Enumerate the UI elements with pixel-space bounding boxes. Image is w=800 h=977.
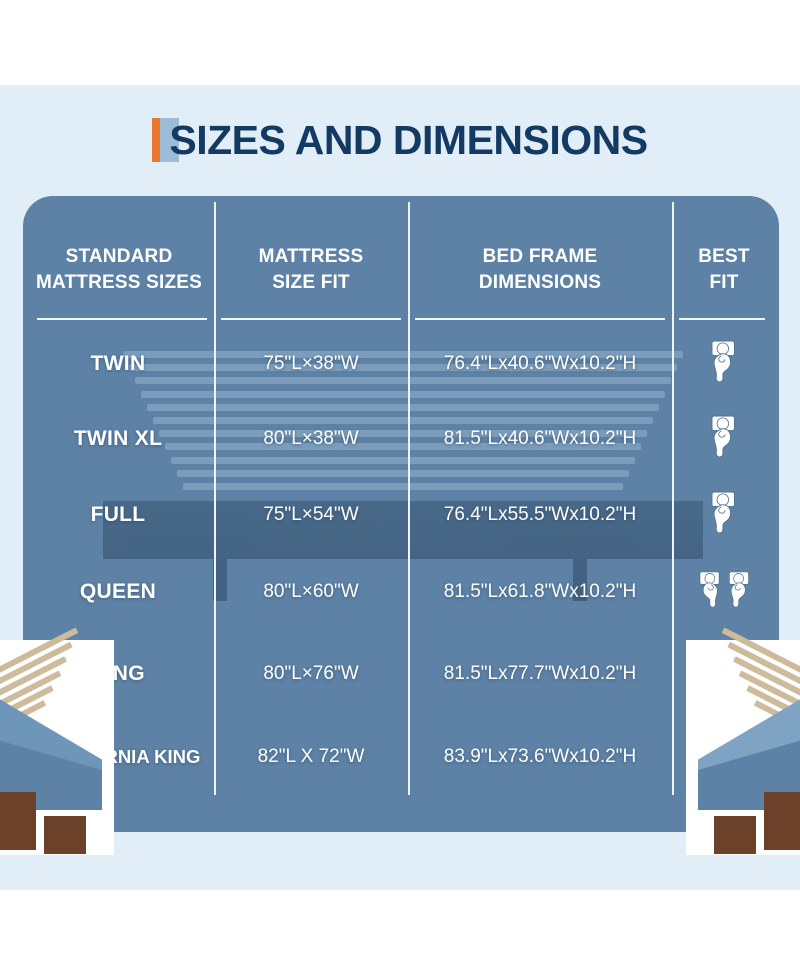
page-title-text: SIZES AND DIMENSIONS <box>169 120 647 161</box>
row-mattress-size-fit: 80"L×38"W <box>216 411 406 467</box>
row-mattress-size-fit: 80"L×76"W <box>216 646 406 702</box>
header-line-2: FIT <box>709 270 738 296</box>
row-bed-frame-dimensions: 81.5"Lx61.8"Wx10.2"H <box>410 564 670 620</box>
row-mattress-size-fit: 80"L×60"W <box>216 564 406 620</box>
adult-sleeping-icon <box>725 571 754 613</box>
best-fit-figure-group <box>707 491 740 539</box>
page-title: SIZES AND DIMENSIONS <box>0 112 800 168</box>
row-bed-frame-dimensions: 81.5"Lx40.6"Wx10.2"H <box>410 411 670 467</box>
row-size-label: FULL <box>23 487 213 543</box>
row-mattress-size-fit: 82"L X 72"W <box>216 729 406 785</box>
column-header-mattress-size-fit: MATTRESS SIZE FIT <box>216 230 406 310</box>
header-line-1: BED FRAME <box>483 244 598 270</box>
sizes-table-panel: STANDARD MATTRESS SIZES MATTRESS SIZE FI… <box>23 196 779 832</box>
row-mattress-size-fit: 75"L×54"W <box>216 487 406 543</box>
row-best-fit-one-adult-sleeping-icon <box>674 326 774 402</box>
header-underline-1 <box>37 318 207 320</box>
adult-sleeping-icon <box>707 415 740 463</box>
adult-sleeping-icon <box>707 340 740 388</box>
header-line-1: MATTRESS <box>259 244 364 270</box>
row-size-label: TWIN <box>23 336 213 392</box>
row-best-fit-two-adults-sleeping-icon <box>674 554 774 630</box>
sizes-table: STANDARD MATTRESS SIZES MATTRESS SIZE FI… <box>23 196 779 832</box>
row-bed-frame-dimensions: 81.5"Lx77.7"Wx10.2"H <box>410 646 670 702</box>
row-best-fit-one-adult-sleeping-icon <box>674 401 774 477</box>
column-header-standard-mattress-sizes: STANDARD MATTRESS SIZES <box>29 230 209 310</box>
header-line-2: DIMENSIONS <box>479 270 601 296</box>
orange-accent-bar <box>152 118 160 162</box>
column-header-bed-frame-dimensions: BED FRAME DIMENSIONS <box>410 230 670 310</box>
row-bed-frame-dimensions: 83.9"Lx73.6"Wx10.2"H <box>410 729 670 785</box>
best-fit-figure-group <box>707 340 740 388</box>
column-header-best-fit: BEST FIT <box>674 230 774 310</box>
header-line-2: MATTRESS SIZES <box>36 270 202 296</box>
row-bed-frame-dimensions: 76.4"Lx40.6"Wx10.2"H <box>410 336 670 392</box>
header-line-2: SIZE FIT <box>272 270 350 296</box>
header-underline-4 <box>679 318 765 320</box>
header-line-1: STANDARD <box>66 244 173 270</box>
infographic-canvas: SIZES AND DIMENSIONS STANDARD MATTRESS S… <box>0 0 800 977</box>
header-line-1: BEST <box>698 244 749 270</box>
row-size-label: QUEEN <box>23 564 213 620</box>
adult-sleeping-icon <box>695 571 724 613</box>
header-underline-3 <box>415 318 665 320</box>
row-bed-frame-dimensions: 76.4"Lx55.5"Wx10.2"H <box>410 487 670 543</box>
best-fit-figure-group <box>695 571 753 613</box>
row-best-fit-one-adult-sleeping-icon <box>674 477 774 553</box>
row-size-label: TWIN XL <box>23 411 213 467</box>
bed-frame-photo-left <box>0 640 114 855</box>
row-mattress-size-fit: 75"L×38"W <box>216 336 406 392</box>
bed-frame-photo-right <box>686 640 800 855</box>
adult-sleeping-icon <box>707 491 740 539</box>
header-underline-2 <box>221 318 401 320</box>
best-fit-figure-group <box>707 415 740 463</box>
